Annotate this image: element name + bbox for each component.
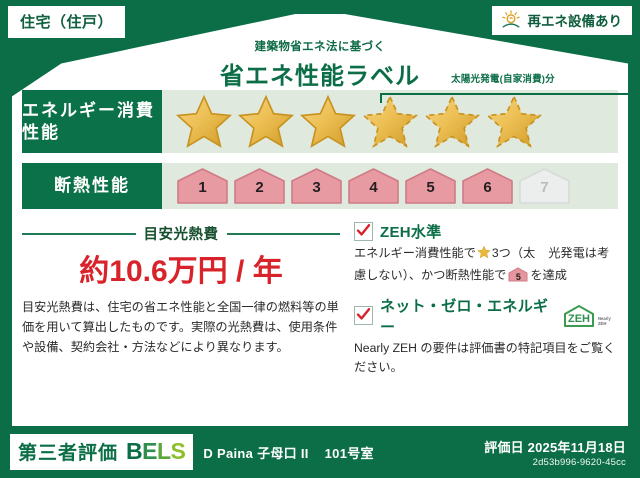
insulation-badge-number: 4: [347, 179, 400, 196]
cost-note: 目安光熱費は、住宅の省エネ性能と全国一律の燃料等の単価を用いて算出したものです。…: [22, 298, 340, 357]
evaluation-meta: 評価日 2025年11月18日 2d53b996-9620-45cc: [484, 437, 626, 468]
zeh-standard-item: ZEH水準 エネルギー消費性能で3つ（太光発電は考慮しない）、かつ断熱性能で5を…: [354, 221, 618, 286]
insulation-badge-1: 1: [176, 167, 229, 205]
insulation-badge-7: 7: [518, 167, 571, 205]
title-main: 省エネ性能ラベル: [0, 56, 640, 91]
zeh-standard-description: エネルギー消費性能で3つ（太光発電は考慮しない）、かつ断熱性能で5を達成: [354, 244, 618, 286]
inline-badge-number: 5: [508, 270, 528, 285]
star-filled: [298, 93, 358, 150]
masked-character: [535, 246, 548, 259]
insulation-badge-number: 3: [290, 179, 343, 196]
title-subtitle: 建築物省エネ法に基づく: [0, 38, 640, 54]
insulation-badge-5: 5: [404, 167, 457, 205]
title-block: 建築物省エネ法に基づく 省エネ性能ラベル: [0, 38, 640, 91]
insulation-badge-2: 2: [233, 167, 286, 205]
third-party-evaluation-label: 第三者評価: [18, 438, 118, 465]
cost-rule-left: [22, 233, 136, 235]
svg-text:ZEH: ZEH: [598, 321, 606, 326]
net-zero-energy-description: Nearly ZEH の要件は評価書の特記項目をご覧ください。: [354, 339, 618, 379]
evaluation-date: 評価日 2025年11月18日: [484, 437, 626, 456]
insulation-badge-number: 5: [404, 179, 457, 196]
zeh-desc-part4: を達成: [530, 268, 567, 282]
zeh-standard-heading: ZEH水準: [354, 221, 618, 242]
insulation-badge-6: 6: [461, 167, 514, 205]
cost-heading: 目安光熱費: [22, 223, 340, 244]
zeh-standard-title: ZEH水準: [380, 221, 442, 242]
insulation-badge-number: 1: [176, 179, 229, 196]
evaluation-id: 2d53b996-9620-45cc: [484, 457, 626, 468]
inline-star-icon: [477, 245, 491, 266]
energy-performance-stars-area: 太陽光発電(自家消費)分: [162, 90, 618, 153]
sun-icon: [500, 10, 522, 30]
star-filled: [174, 93, 234, 150]
footer-bar: 第三者評価 BELS D Paina 子母口 II 101号室 評価日 2025…: [0, 426, 640, 478]
zeh-standard-checkbox[interactable]: [354, 222, 373, 241]
zeh-desc-part2: 3つ（太: [492, 246, 535, 260]
insulation-performance-label: 断熱性能: [22, 163, 162, 209]
svg-text:ZEH: ZEH: [568, 313, 590, 325]
net-zero-energy-checkbox[interactable]: [354, 306, 373, 325]
label-content: エネルギー消費性能 太陽光発電(自家消費)分 断熱性能 1234567 目安光: [22, 90, 618, 420]
insulation-badges: 1234567: [170, 163, 571, 209]
star-filled: [236, 93, 296, 150]
insulation-badge-number: 2: [233, 179, 286, 196]
renewable-equipment-label: 再エネ設備あり: [528, 10, 623, 30]
zeh-logo: ZEH Nearly ZEH: [562, 304, 618, 328]
net-zero-energy-title: ネット・ゼロ・エネルギー: [380, 295, 551, 337]
bels-logo-box: 第三者評価 BELS: [10, 434, 193, 470]
insulation-badge-4: 4: [347, 167, 400, 205]
energy-performance-label-line1: エネルギー消費性能: [22, 100, 162, 143]
zeh-desc-part1: エネルギー消費性能で: [354, 246, 476, 260]
net-zero-energy-item: ネット・ゼロ・エネルギー ZEH Nearly ZEH: [354, 295, 618, 379]
building-info: D Paina 子母口 II 101号室: [203, 443, 373, 462]
cost-rule-right: [227, 233, 341, 235]
cost-heading-text: 目安光熱費: [144, 223, 219, 244]
room-number: 101号室: [325, 446, 374, 461]
insulation-badge-number: 6: [461, 179, 514, 196]
bottom-columns: 目安光熱費 約10.6万円 / 年 目安光熱費は、住宅の省エネ性能と全国一律の燃…: [22, 219, 618, 387]
insulation-badges-area: 1234567: [162, 163, 618, 209]
inline-insulation-badge: 5: [508, 267, 528, 282]
bels-logo: BELS: [126, 438, 185, 465]
insulation-performance-row: 断熱性能 1234567: [22, 163, 618, 209]
cost-value: 約10.6万円 / 年: [22, 246, 340, 290]
building-name: D Paina 子母口 II: [203, 446, 308, 461]
insulation-performance-label-text: 断熱性能: [54, 175, 130, 196]
insulation-badge-number: 7: [518, 179, 571, 196]
renewable-equipment-tag: 再エネ設備あり: [492, 6, 633, 35]
zeh-column: ZEH水準 エネルギー消費性能で3つ（太光発電は考慮しない）、かつ断熱性能で5を…: [354, 219, 618, 387]
energy-performance-label: エネルギー消費性能: [22, 90, 162, 153]
cost-column: 目安光熱費 約10.6万円 / 年 目安光熱費は、住宅の省エネ性能と全国一律の燃…: [22, 219, 340, 387]
insulation-badge-3: 3: [290, 167, 343, 205]
house-type-tag: 住宅（住戸）: [8, 6, 125, 38]
solar-bracket: [380, 93, 630, 103]
energy-performance-row: エネルギー消費性能 太陽光発電(自家消費)分: [22, 90, 618, 153]
net-zero-energy-heading: ネット・ゼロ・エネルギー ZEH Nearly ZEH: [354, 295, 618, 337]
energy-label: 住宅（住戸） 再エネ設備あり 建築物省エネ法に基づく 省エネ性能ラベル: [0, 0, 640, 478]
